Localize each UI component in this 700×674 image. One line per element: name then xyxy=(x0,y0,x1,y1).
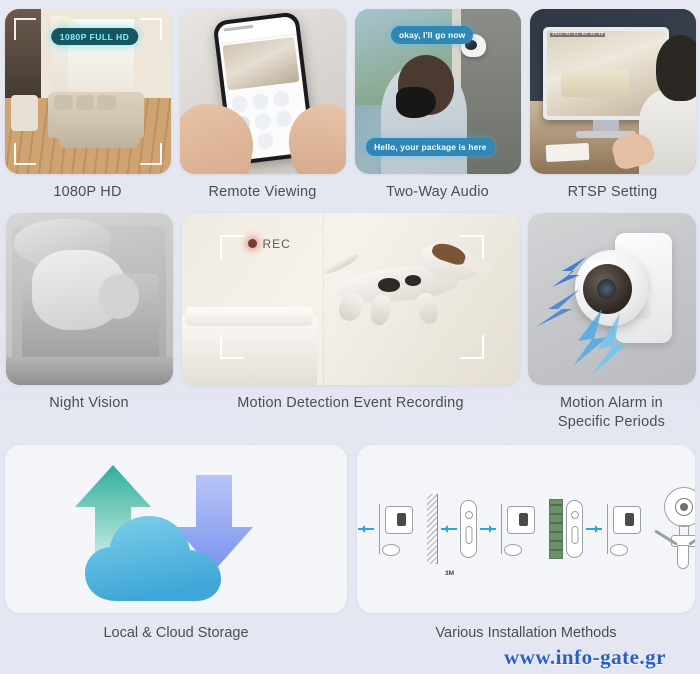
streamed-living-room xyxy=(561,70,630,97)
feature-card-1080p-hd[interactable]: 1080P FULL HD 1080P HD xyxy=(0,9,175,203)
baby-head xyxy=(99,274,139,319)
cloud-storage-panel xyxy=(5,445,347,613)
night-vision-image xyxy=(6,213,173,385)
method-tripod-mount xyxy=(655,487,695,571)
dog-spot xyxy=(378,278,400,291)
bed-mattress xyxy=(185,307,313,326)
cloud-upload-download-icon xyxy=(5,445,347,613)
tape-label-3m: 3M xyxy=(445,570,454,577)
feature-caption-motion-alarm: Motion Alarm in Specific Periods xyxy=(558,394,665,433)
detect-corner-bottom-right-icon xyxy=(460,335,484,359)
app-icon xyxy=(254,112,272,130)
dog-spot xyxy=(405,275,422,286)
app-icon xyxy=(257,132,275,150)
tripod-icon xyxy=(655,487,695,571)
feature-card-remote-viewing[interactable]: Remote Viewing xyxy=(175,9,350,203)
cushion xyxy=(97,95,115,110)
method-magnet-mount xyxy=(357,493,415,565)
wall-hatch-icon xyxy=(427,494,438,564)
feature-card-two-way-audio[interactable]: okay, I'll go now Hello, your package is… xyxy=(350,9,525,203)
feature-card-cloud-storage[interactable]: Local & Cloud Storage xyxy=(0,445,352,641)
phone-in-hand-image xyxy=(180,9,346,174)
feature-caption-two-way-audio: Two-Way Audio xyxy=(386,183,489,203)
detect-corner-top-right-icon xyxy=(460,235,484,259)
adhesive-strip-icon xyxy=(549,499,563,559)
cushion xyxy=(54,95,72,110)
living-room-image: 1080P FULL HD xyxy=(5,9,171,174)
jumping-dog xyxy=(320,247,489,330)
camera-outline-icon xyxy=(605,500,643,558)
strip-bracket-icon xyxy=(566,500,583,558)
feature-card-motion-detection[interactable]: REC Motion Detection Event Recording xyxy=(178,213,523,433)
desktop-monitor-image: 2022-01-21 09:46:30 xyxy=(530,9,696,174)
feature-grid-page: 1080P FULL HD 1080P HD xyxy=(0,0,700,674)
record-label: REC xyxy=(263,237,291,251)
arrow-right-icon xyxy=(586,528,602,530)
motion-detection-image: REC xyxy=(182,213,520,385)
crib-rail xyxy=(6,357,173,385)
bed-base xyxy=(182,316,317,385)
feature-caption-remote-viewing: Remote Viewing xyxy=(208,183,316,203)
installation-diagram: 3M xyxy=(357,445,695,613)
feature-row-3: Local & Cloud Storage xyxy=(0,433,700,641)
frame-corner-top-left-icon xyxy=(14,18,36,40)
recording-indicator: REC xyxy=(248,237,291,251)
viewer-head xyxy=(656,35,696,101)
camera-outline-icon xyxy=(499,500,537,558)
video-timestamp-overlay: 2022-01-21 09:46:30 xyxy=(550,33,606,37)
app-icon xyxy=(273,90,291,108)
feature-caption-installation-methods: Various Installation Methods xyxy=(435,625,616,641)
feature-caption-rtsp-setting: RTSP Setting xyxy=(568,183,658,203)
method-wall-bracket: 3M xyxy=(427,494,537,564)
caption-line-1: Motion Alarm in xyxy=(560,395,663,411)
detect-corner-top-left-icon xyxy=(220,235,244,259)
app-icon xyxy=(252,93,270,111)
feature-row-1: 1080P FULL HD 1080P HD xyxy=(0,0,700,203)
dog-tail xyxy=(324,252,361,277)
arrow-left-icon xyxy=(358,528,374,530)
camera-live-feed-thumbnail xyxy=(222,37,299,91)
feature-caption-cloud-storage: Local & Cloud Storage xyxy=(103,625,248,641)
speech-bubble-visitor: okay, I'll go now xyxy=(391,26,473,44)
frame-corner-top-right-icon xyxy=(140,18,162,40)
desk-papers xyxy=(546,143,590,162)
feature-caption-night-vision: Night Vision xyxy=(49,394,129,414)
alarm-wave-icons xyxy=(528,213,696,385)
screw-bracket-icon xyxy=(460,500,477,558)
hd-badge: 1080P FULL HD xyxy=(51,28,139,45)
arrow-left-icon xyxy=(441,528,457,530)
frame-corner-bottom-left-icon xyxy=(14,143,36,165)
record-dot-icon xyxy=(248,239,257,248)
feature-card-installation-methods[interactable]: 3M xyxy=(352,445,700,641)
chair xyxy=(11,95,38,131)
sofa-chaise xyxy=(59,111,139,147)
feature-row-2: Night Vision xyxy=(0,203,700,433)
arrow-right-icon xyxy=(480,528,496,530)
speech-bubble-owner: Hello, your package is here xyxy=(366,138,495,156)
face-mask xyxy=(396,87,436,118)
feature-caption-motion-detection: Motion Detection Event Recording xyxy=(237,394,463,414)
method-adhesive-strip xyxy=(549,499,643,559)
dog-leg xyxy=(415,291,441,326)
feature-card-night-vision[interactable]: Night Vision xyxy=(0,213,178,433)
cushion xyxy=(76,95,94,110)
frame-corner-bottom-right-icon xyxy=(140,143,162,165)
feature-caption-1080p-hd: 1080P HD xyxy=(53,183,121,203)
caption-line-2: Specific Periods xyxy=(558,414,665,430)
feature-card-rtsp-setting[interactable]: 2022-01-21 09:46:30 RTSP Setting xyxy=(525,9,700,203)
installation-methods-panel: 3M xyxy=(357,445,695,613)
detect-corner-bottom-left-icon xyxy=(220,335,244,359)
site-watermark: www.info-gate.gr xyxy=(470,645,700,670)
camera-outline-icon xyxy=(377,500,415,558)
motion-alarm-image xyxy=(528,213,696,385)
app-icon xyxy=(275,110,293,128)
doorway-conversation-image: okay, I'll go now Hello, your package is… xyxy=(355,9,521,174)
feature-card-motion-alarm[interactable]: Motion Alarm in Specific Periods xyxy=(523,213,700,433)
